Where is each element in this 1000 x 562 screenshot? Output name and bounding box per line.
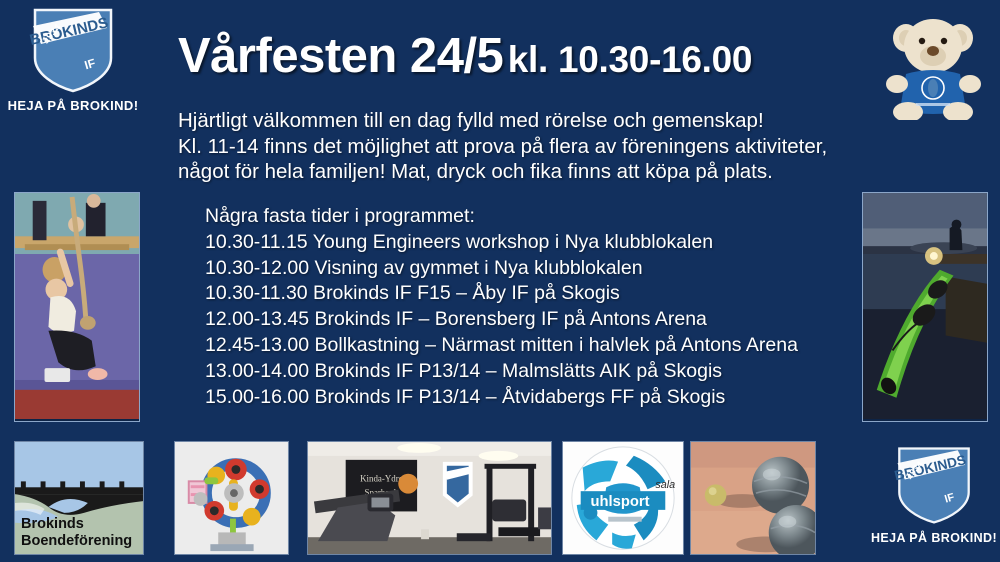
page-title: Vårfesten 24/5 kl. 10.30-16.00 <box>178 28 752 84</box>
football-photo: uhlsport sala <box>562 441 684 555</box>
boende-line-2: Boendeförening <box>21 533 132 550</box>
title-main: Vårfesten 24/5 <box>178 29 503 83</box>
crest-shield-icon: BROKINDS 1934 IF <box>27 6 119 94</box>
teddy-bear-image <box>880 8 988 120</box>
intro-line-1: Hjärtligt välkommen till en dag fylld me… <box>178 108 858 134</box>
intro-line-2: Kl. 11-14 finns det möjlighet att prova … <box>178 134 858 160</box>
boules-photo <box>690 441 816 555</box>
intro-paragraph: Hjärtligt välkommen till en dag fylld me… <box>178 108 858 185</box>
crest-tagline-bottom: HEJA PÅ BROKIND! <box>871 531 997 545</box>
program-schedule: Några fasta tider i programmet: 10.30-11… <box>205 204 905 410</box>
kayak-photo <box>862 192 988 422</box>
gym-photo: Kinda-Ydre Sparbank <box>307 441 552 555</box>
program-item: 12.00-13.45 Brokinds IF – Borensberg IF … <box>205 307 905 333</box>
crest-tagline-top: HEJA PÅ BROKIND! <box>8 98 139 113</box>
boende-line-1: Brokinds <box>21 516 132 533</box>
boende-logo-text: Brokinds Boendeförening <box>21 516 132 550</box>
program-heading: Några fasta tider i programmet: <box>205 204 905 230</box>
intro-line-3: något för hela familjen! Mat, dryck och … <box>178 159 858 185</box>
boendeforening-logo: Brokinds Boendeförening <box>14 441 144 555</box>
program-item: 10.30-11.30 Brokinds IF F15 – Åby IF på … <box>205 281 905 307</box>
lego-robot-photo <box>174 441 289 555</box>
gym-banner-line-1: Kinda-Ydre <box>360 474 403 484</box>
club-crest-top-left: BROKINDS 1934 IF HEJA PÅ BROKIND! <box>14 6 132 113</box>
title-time: kl. 10.30-16.00 <box>508 39 752 80</box>
program-item: 13.00-14.00 Brokinds IF P13/14 – Malmslä… <box>205 359 905 385</box>
club-crest-bottom-right: BROKINDS 1934 IF HEJA PÅ BROKIND! <box>878 444 990 545</box>
program-item: 15.00-16.00 Brokinds IF P13/14 – Åtvidab… <box>205 385 905 411</box>
crest-shield-icon: BROKINDS 1934 IF <box>892 444 976 526</box>
poster-root: BROKINDS 1934 IF HEJA PÅ BROKIND! Vårfes… <box>0 0 1000 562</box>
gymnastics-photo <box>14 192 140 422</box>
program-item: 12.45-13.00 Bollkastning – Närmast mitte… <box>205 333 905 359</box>
program-item: 10.30-12.00 Visning av gymmet i Nya klub… <box>205 256 905 282</box>
football-brand-label: uhlsport <box>591 494 650 510</box>
program-item: 10.30-11.15 Young Engineers workshop i N… <box>205 230 905 256</box>
football-model-label: sala <box>655 479 675 491</box>
